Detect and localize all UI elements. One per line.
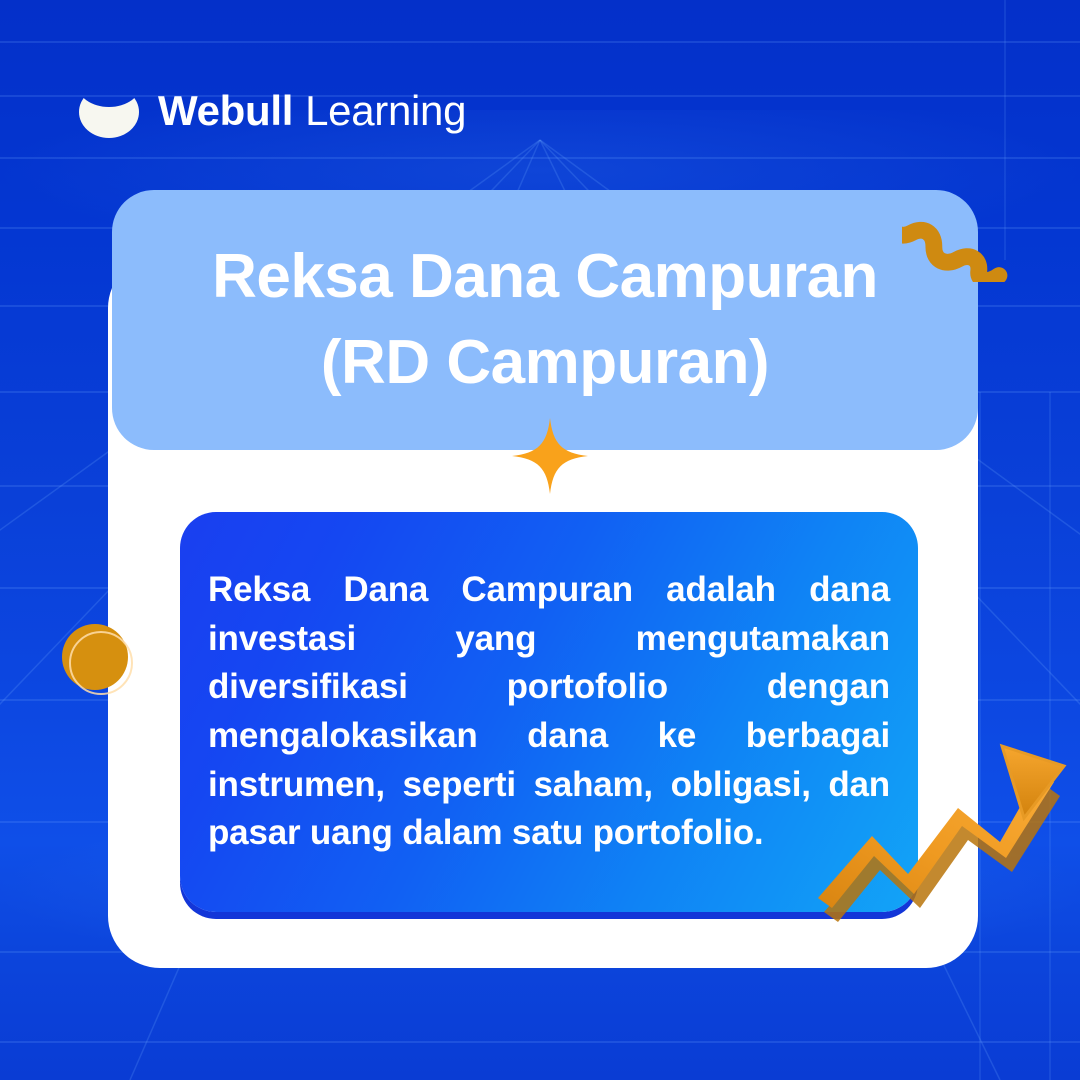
brand-product: Learning	[305, 87, 466, 134]
brand-wordmark: WebullLearning	[158, 90, 466, 132]
page-title-line-2: (RD Campuran)	[321, 322, 769, 404]
brand-name: Webull	[158, 87, 293, 134]
learning-card-canvas: WebullLearning Reksa Dana Campuran (RD C…	[0, 0, 1080, 1080]
title-card: Reksa Dana Campuran (RD Campuran)	[112, 190, 978, 450]
page-title-line-1: Reksa Dana Campuran	[212, 236, 878, 318]
definition-text: Reksa Dana Campuran adalah dana investas…	[208, 566, 890, 858]
webull-crescent-bull-icon	[78, 81, 140, 139]
definition-card: Reksa Dana Campuran adalah dana investas…	[180, 512, 918, 912]
brand-logo[interactable]: WebullLearning	[78, 78, 466, 142]
